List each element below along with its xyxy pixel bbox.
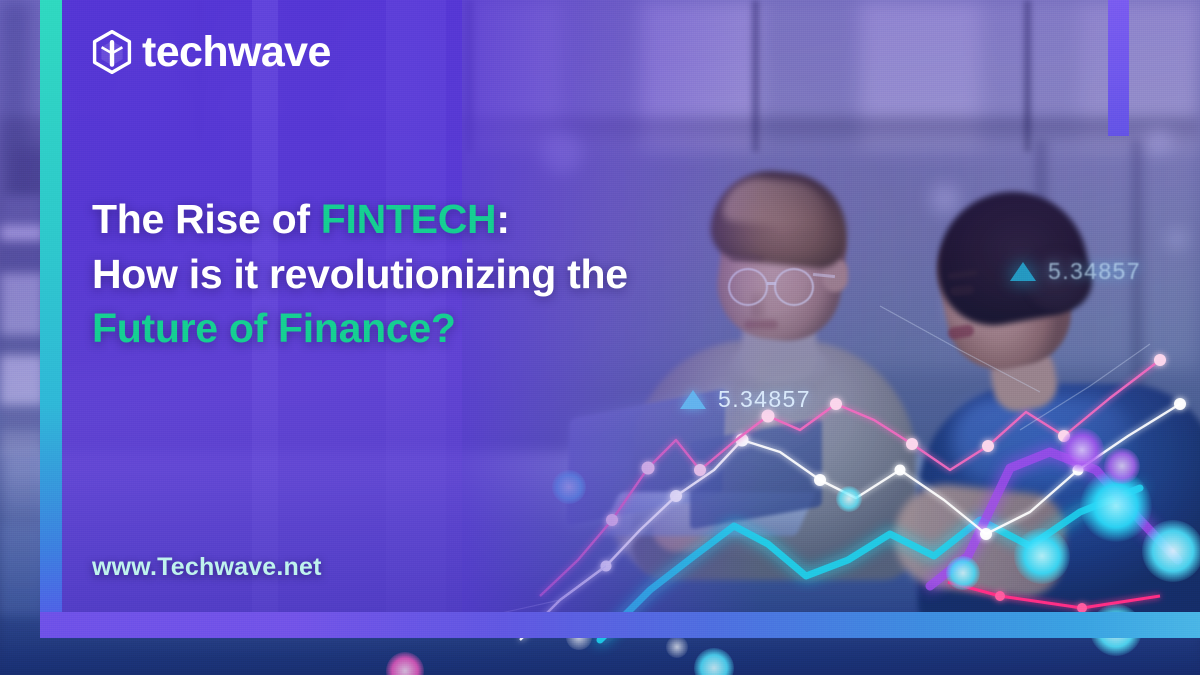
film-grain-overlay <box>0 0 1200 675</box>
banner-stage: techwave The Rise of FINTECH: How is it … <box>0 0 1200 675</box>
